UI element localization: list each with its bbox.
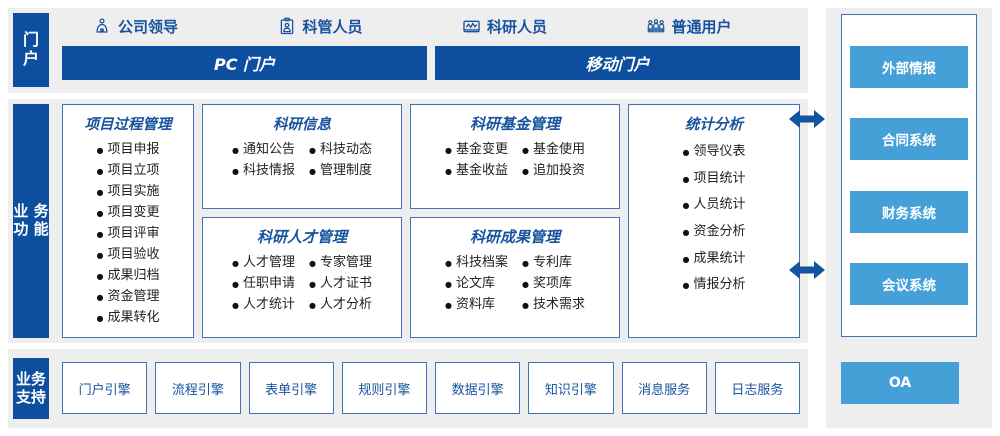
item-label: 项目实施 <box>107 181 159 202</box>
card-project-process-management[interactable]: 项目过程管理 项目申报 项目立项 项目实施 项目变更 项目评审 项目验收 成果归… <box>62 104 194 338</box>
support-label-char-2: 支 <box>16 388 31 406</box>
external-system-contract[interactable]: 合同系统 <box>850 118 968 160</box>
item-label: 管理制度 <box>320 160 372 181</box>
support-label-char-0: 业 <box>16 370 31 388</box>
item-label: 基金收益 <box>456 160 508 181</box>
engine-button-data[interactable]: 数据引擎 <box>435 362 520 414</box>
list-item[interactable]: 项目立项 <box>97 160 160 181</box>
role-research-admin[interactable]: 科管人员 <box>247 16 432 37</box>
research-admin-icon <box>277 16 297 36</box>
card-statistical-analysis[interactable]: 统计分析 领导仪表 项目统计 人员统计 资金分析 成果统计 情报分析 <box>628 104 800 338</box>
portal-label-char-0: 门 <box>23 31 39 50</box>
item-label: 人员统计 <box>693 192 745 219</box>
list-item[interactable]: 通知公告 <box>232 139 295 160</box>
list-item[interactable]: 科技动态 <box>309 139 372 160</box>
list-research-information: 通知公告 科技动态 科技情报 管理制度 <box>232 139 372 181</box>
item-label: 通知公告 <box>243 139 295 160</box>
role-label-general-user: 普通用户 <box>672 16 732 37</box>
item-label: 项目立项 <box>107 160 159 181</box>
item-label: 情报分析 <box>693 272 745 299</box>
item-label: 人才分析 <box>320 294 372 315</box>
column-fund-achievement: 科研基金管理 基金变更 基金使用 基金收益 追加投资 科研成果管理 科技档案 专… <box>410 104 620 338</box>
business-function-section-label: 业 务 功 能 <box>13 104 49 338</box>
role-label-researcher: 科研人员 <box>487 16 547 37</box>
external-system-oa[interactable]: OA <box>841 362 959 404</box>
list-item[interactable]: 项目实施 <box>97 181 160 202</box>
card-research-information[interactable]: 科研信息 通知公告 科技动态 科技情报 管理制度 <box>202 104 402 209</box>
item-label: 基金变更 <box>456 139 508 160</box>
list-item[interactable]: 人才分析 <box>309 294 372 315</box>
role-row: 公司领导 科管人员 <box>62 8 800 44</box>
list-research-fund: 基金变更 基金使用 基金收益 追加投资 <box>445 139 585 181</box>
item-label: 成果归档 <box>107 265 159 286</box>
item-label: 科技情报 <box>243 160 295 181</box>
company-leader-icon <box>92 16 112 36</box>
bidirectional-arrow-icon <box>789 108 825 130</box>
list-item[interactable]: 专利库 <box>522 252 585 273</box>
role-general-user[interactable]: 普通用户 <box>616 16 801 37</box>
list-item[interactable]: 奖项库 <box>522 273 585 294</box>
card-research-fund-management[interactable]: 科研基金管理 基金变更 基金使用 基金收益 追加投资 <box>410 104 620 209</box>
item-label: 成果转化 <box>107 307 159 328</box>
item-label: 专利库 <box>533 252 572 273</box>
column-research-info-talent: 科研信息 通知公告 科技动态 科技情报 管理制度 科研人才管理 人才管理 专家管… <box>202 104 402 338</box>
portal-label-char-1: 户 <box>23 50 39 69</box>
architecture-diagram: 门 户 公司领导 <box>0 0 1000 436</box>
external-system-meeting[interactable]: 会议系统 <box>850 263 968 305</box>
list-item[interactable]: 人才管理 <box>232 252 295 273</box>
external-system-intelligence[interactable]: 外部情报 <box>850 46 968 88</box>
list-statistical-analysis: 领导仪表 项目统计 人员统计 资金分析 成果统计 情报分析 <box>683 139 746 299</box>
business-support-section-label: 业务 支持 <box>13 358 49 419</box>
item-label: 追加投资 <box>533 160 585 181</box>
business-function-content: 项目过程管理 项目申报 项目立项 项目实施 项目变更 项目评审 项目验收 成果归… <box>62 104 800 338</box>
engine-button-rule[interactable]: 规则引擎 <box>342 362 427 414</box>
role-company-leader[interactable]: 公司领导 <box>62 16 247 37</box>
card-title-research-information: 科研信息 <box>273 113 331 134</box>
card-research-talent-management[interactable]: 科研人才管理 人才管理 专家管理 任职申请 人才证书 人才统计 人才分析 <box>202 217 402 338</box>
item-label: 科技动态 <box>320 139 372 160</box>
list-item[interactable]: 论文库 <box>445 273 508 294</box>
researcher-icon <box>461 16 481 36</box>
list-item[interactable]: 管理制度 <box>309 160 372 181</box>
list-item[interactable]: 人员统计 <box>683 192 746 219</box>
list-item[interactable]: 追加投资 <box>522 160 585 181</box>
engine-button-portal[interactable]: 门户引擎 <box>62 362 147 414</box>
list-item[interactable]: 科技情报 <box>232 160 295 181</box>
card-title-project-process: 项目过程管理 <box>85 113 172 134</box>
item-label: 基金使用 <box>533 139 585 160</box>
support-label-char-3: 持 <box>31 388 46 406</box>
card-title-research-talent: 科研人才管理 <box>257 226 347 247</box>
engine-button-form[interactable]: 表单引擎 <box>249 362 334 414</box>
item-label: 资料库 <box>456 294 495 315</box>
func-label-char-1: 务 <box>34 202 49 220</box>
list-research-talent: 人才管理 专家管理 任职申请 人才证书 人才统计 人才分析 <box>232 252 372 315</box>
engine-button-message-service[interactable]: 消息服务 <box>622 362 707 414</box>
list-item[interactable]: 人才统计 <box>232 294 295 315</box>
item-label: 专家管理 <box>320 252 372 273</box>
list-item[interactable]: 项目验收 <box>97 244 160 265</box>
list-item[interactable]: 人才证书 <box>309 273 372 294</box>
list-item[interactable]: 项目统计 <box>683 166 746 193</box>
list-item[interactable]: 情报分析 <box>683 272 746 299</box>
item-label: 项目统计 <box>693 166 745 193</box>
support-label-char-1: 务 <box>31 370 46 388</box>
item-label: 项目申报 <box>107 139 159 160</box>
item-label: 资金管理 <box>107 286 159 307</box>
engine-button-knowledge[interactable]: 知识引擎 <box>528 362 613 414</box>
item-label: 成果统计 <box>693 246 745 273</box>
list-item[interactable]: 任职申请 <box>232 273 295 294</box>
item-label: 技术需求 <box>533 294 585 315</box>
list-item[interactable]: 成果统计 <box>683 246 746 273</box>
bidirectional-arrow-icon <box>789 259 825 281</box>
engine-button-workflow[interactable]: 流程引擎 <box>155 362 240 414</box>
item-label: 人才证书 <box>320 273 372 294</box>
list-item[interactable]: 基金使用 <box>522 139 585 160</box>
list-item[interactable]: 基金变更 <box>445 139 508 160</box>
business-support-content: 门户引擎 流程引擎 表单引擎 规则引擎 数据引擎 知识引擎 消息服务 日志服务 <box>62 362 800 414</box>
portal-content: 公司领导 科管人员 <box>62 8 800 86</box>
list-item[interactable]: 资金管理 <box>97 286 160 307</box>
item-label: 人才统计 <box>243 294 295 315</box>
list-research-achievement: 科技档案 专利库 论文库 奖项库 资料库 技术需求 <box>445 252 585 315</box>
func-label-char-0: 业 <box>13 202 28 220</box>
list-item[interactable]: 成果转化 <box>97 307 160 328</box>
item-label: 项目评审 <box>107 223 159 244</box>
list-item[interactable]: 专家管理 <box>309 252 372 273</box>
list-item[interactable]: 领导仪表 <box>683 139 746 166</box>
list-item[interactable]: 资金分析 <box>683 219 746 246</box>
card-title-research-fund: 科研基金管理 <box>470 113 560 134</box>
item-label: 任职申请 <box>243 273 295 294</box>
portal-section-label: 门 户 <box>13 13 49 87</box>
item-label: 奖项库 <box>533 273 572 294</box>
list-project-process: 项目申报 项目立项 项目实施 项目变更 项目评审 项目验收 成果归档 资金管理 … <box>97 139 160 328</box>
item-label: 项目变更 <box>107 202 159 223</box>
list-item[interactable]: 资料库 <box>445 294 508 315</box>
pc-portal-button[interactable]: PC 门户 <box>62 46 427 80</box>
list-item[interactable]: 项目变更 <box>97 202 160 223</box>
item-label: 论文库 <box>456 273 495 294</box>
card-title-research-achievement: 科研成果管理 <box>470 226 560 247</box>
mobile-portal-button[interactable]: 移动门户 <box>435 46 800 80</box>
role-label-company-leader: 公司领导 <box>118 16 178 37</box>
list-item[interactable]: 项目申报 <box>97 139 160 160</box>
item-label: 人才管理 <box>243 252 295 273</box>
list-item[interactable]: 科技档案 <box>445 252 508 273</box>
role-label-research-admin: 科管人员 <box>303 16 363 37</box>
list-item[interactable]: 成果归档 <box>97 265 160 286</box>
item-label: 项目验收 <box>107 244 159 265</box>
general-user-icon <box>646 16 666 36</box>
func-label-char-3: 能 <box>34 220 49 238</box>
card-title-statistical-analysis: 统计分析 <box>685 113 743 134</box>
list-item[interactable]: 基金收益 <box>445 160 508 181</box>
item-label: 资金分析 <box>693 219 745 246</box>
external-system-finance[interactable]: 财务系统 <box>850 191 968 233</box>
card-research-achievement-management[interactable]: 科研成果管理 科技档案 专利库 论文库 奖项库 资料库 技术需求 <box>410 217 620 338</box>
portal-buttons: PC 门户 移动门户 <box>62 46 800 80</box>
list-item[interactable]: 技术需求 <box>522 294 585 315</box>
role-researcher[interactable]: 科研人员 <box>431 16 616 37</box>
item-label: 领导仪表 <box>693 139 745 166</box>
item-label: 科技档案 <box>456 252 508 273</box>
engine-button-log-service[interactable]: 日志服务 <box>715 362 800 414</box>
external-systems-box: 外部情报 合同系统 财务系统 会议系统 <box>841 14 977 337</box>
list-item[interactable]: 项目评审 <box>97 223 160 244</box>
func-label-char-2: 功 <box>13 220 28 238</box>
